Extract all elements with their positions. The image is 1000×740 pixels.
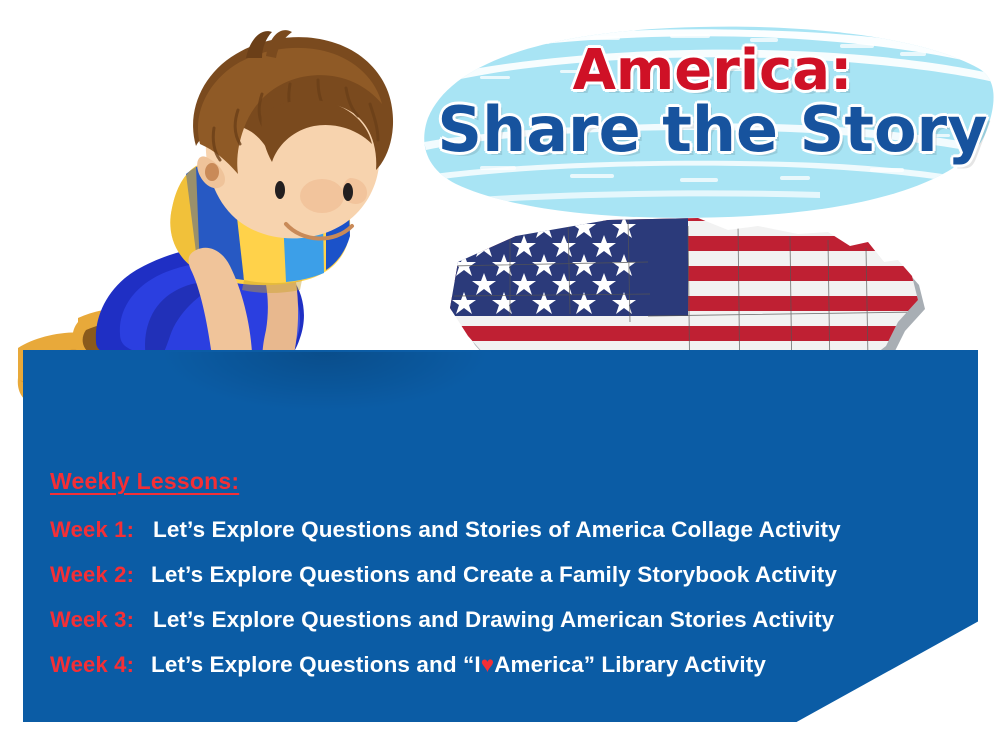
weekly-lessons-list: Weekly Lessons: Week 1: Let’s Explore Qu… xyxy=(50,468,980,697)
title-line-america: America: xyxy=(430,44,995,98)
week-label-4: Week 4: xyxy=(50,652,151,678)
poster-canvas: America: Share the Story xyxy=(0,0,1000,740)
week-activity-4-pre: Let’s Explore Questions and “I xyxy=(151,652,481,678)
lesson-row-week-4: Week 4: Let’s Explore Questions and “I ♥… xyxy=(50,652,980,678)
week-activity-2: Let’s Explore Questions and Create a Fam… xyxy=(151,562,837,588)
poster-title: America: Share the Story xyxy=(430,44,995,159)
week-activity-1: Let’s Explore Questions and Stories of A… xyxy=(153,517,841,543)
weekly-lessons-heading: Weekly Lessons: xyxy=(50,468,239,495)
lesson-row-week-1: Week 1: Let’s Explore Questions and Stor… xyxy=(50,517,980,543)
week-label-1: Week 1: xyxy=(50,517,153,543)
week-label-3: Week 3: xyxy=(50,607,153,633)
week-activity-4-post: America” Library Activity xyxy=(494,652,766,678)
title-line-share-the-story: Share the Story xyxy=(430,100,995,160)
lesson-row-week-3: Week 3: Let’s Explore Questions and Draw… xyxy=(50,607,980,633)
week-label-2: Week 2: xyxy=(50,562,151,588)
heart-icon: ♥ xyxy=(481,652,494,678)
week-activity-3: Let’s Explore Questions and Drawing Amer… xyxy=(153,607,834,633)
lesson-row-week-2: Week 2: Let’s Explore Questions and Crea… xyxy=(50,562,980,588)
